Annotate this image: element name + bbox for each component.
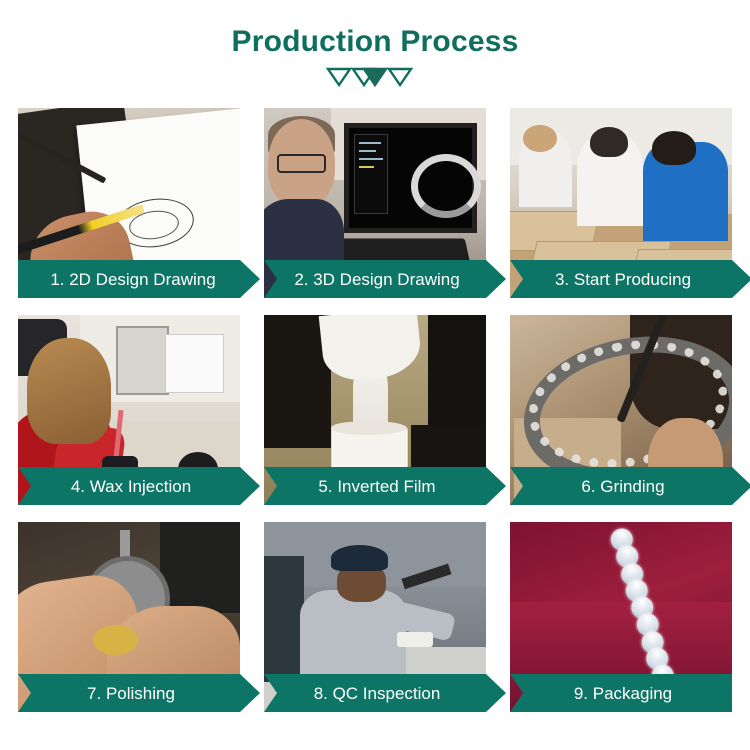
step-caption-6: 6. Grinding bbox=[510, 467, 732, 505]
step-label-3: 3. Start Producing bbox=[545, 271, 697, 288]
step-arrow-3-icon bbox=[732, 260, 750, 298]
step-label-6: 6. Grinding bbox=[571, 478, 670, 495]
header: Production Process bbox=[0, 0, 750, 88]
step-label-2: 2. 3D Design Drawing bbox=[284, 271, 465, 288]
process-step-card-5[interactable]: 5. Inverted Film bbox=[264, 315, 486, 505]
step-label-4: 4. Wax Injection bbox=[61, 478, 197, 495]
step-label-1: 1. 2D Design Drawing bbox=[36, 271, 221, 288]
step-caption-9: 9. Packaging bbox=[510, 674, 732, 712]
diamond-divider-icon bbox=[0, 66, 750, 88]
step-arrow-8-icon bbox=[486, 674, 506, 712]
step-caption-7: 7. Polishing bbox=[18, 674, 240, 712]
step-caption-2: 2. 3D Design Drawing bbox=[264, 260, 486, 298]
step-arrow-7-icon bbox=[240, 674, 260, 712]
process-step-grid: 1. 2D Design Drawing 2. 3D Des bbox=[18, 108, 732, 721]
step-caption-5: 5. Inverted Film bbox=[264, 467, 486, 505]
process-step-card-1[interactable]: 1. 2D Design Drawing bbox=[18, 108, 240, 298]
process-step-card-3[interactable]: 3. Start Producing bbox=[510, 108, 732, 298]
process-step-card-4[interactable]: 4. Wax Injection bbox=[18, 315, 240, 505]
step-arrow-6-icon bbox=[732, 467, 750, 505]
process-step-card-6[interactable]: 6. Grinding bbox=[510, 315, 732, 505]
step-arrow-5-icon bbox=[486, 467, 506, 505]
step-caption-3: 3. Start Producing bbox=[510, 260, 732, 298]
process-step-card-9[interactable]: 9. Packaging bbox=[510, 522, 732, 712]
step-label-9: 9. Packaging bbox=[564, 685, 678, 702]
step-arrow-4-icon bbox=[240, 467, 260, 505]
process-step-card-7[interactable]: 7. Polishing bbox=[18, 522, 240, 712]
production-process-infographic: Production Process 1. 2D Design Drawing bbox=[0, 0, 750, 750]
process-step-card-2[interactable]: 2. 3D Design Drawing bbox=[264, 108, 486, 298]
step-caption-4: 4. Wax Injection bbox=[18, 467, 240, 505]
step-caption-1: 1. 2D Design Drawing bbox=[18, 260, 240, 298]
step-caption-8: 8. QC Inspection bbox=[264, 674, 486, 712]
process-step-card-8[interactable]: 8. QC Inspection bbox=[264, 522, 486, 712]
step-arrow-1-icon bbox=[240, 260, 260, 298]
step-label-5: 5. Inverted Film bbox=[308, 478, 441, 495]
step-arrow-2-icon bbox=[486, 260, 506, 298]
step-label-7: 7. Polishing bbox=[77, 685, 181, 702]
page-title: Production Process bbox=[0, 27, 750, 57]
step-label-8: 8. QC Inspection bbox=[304, 685, 447, 702]
